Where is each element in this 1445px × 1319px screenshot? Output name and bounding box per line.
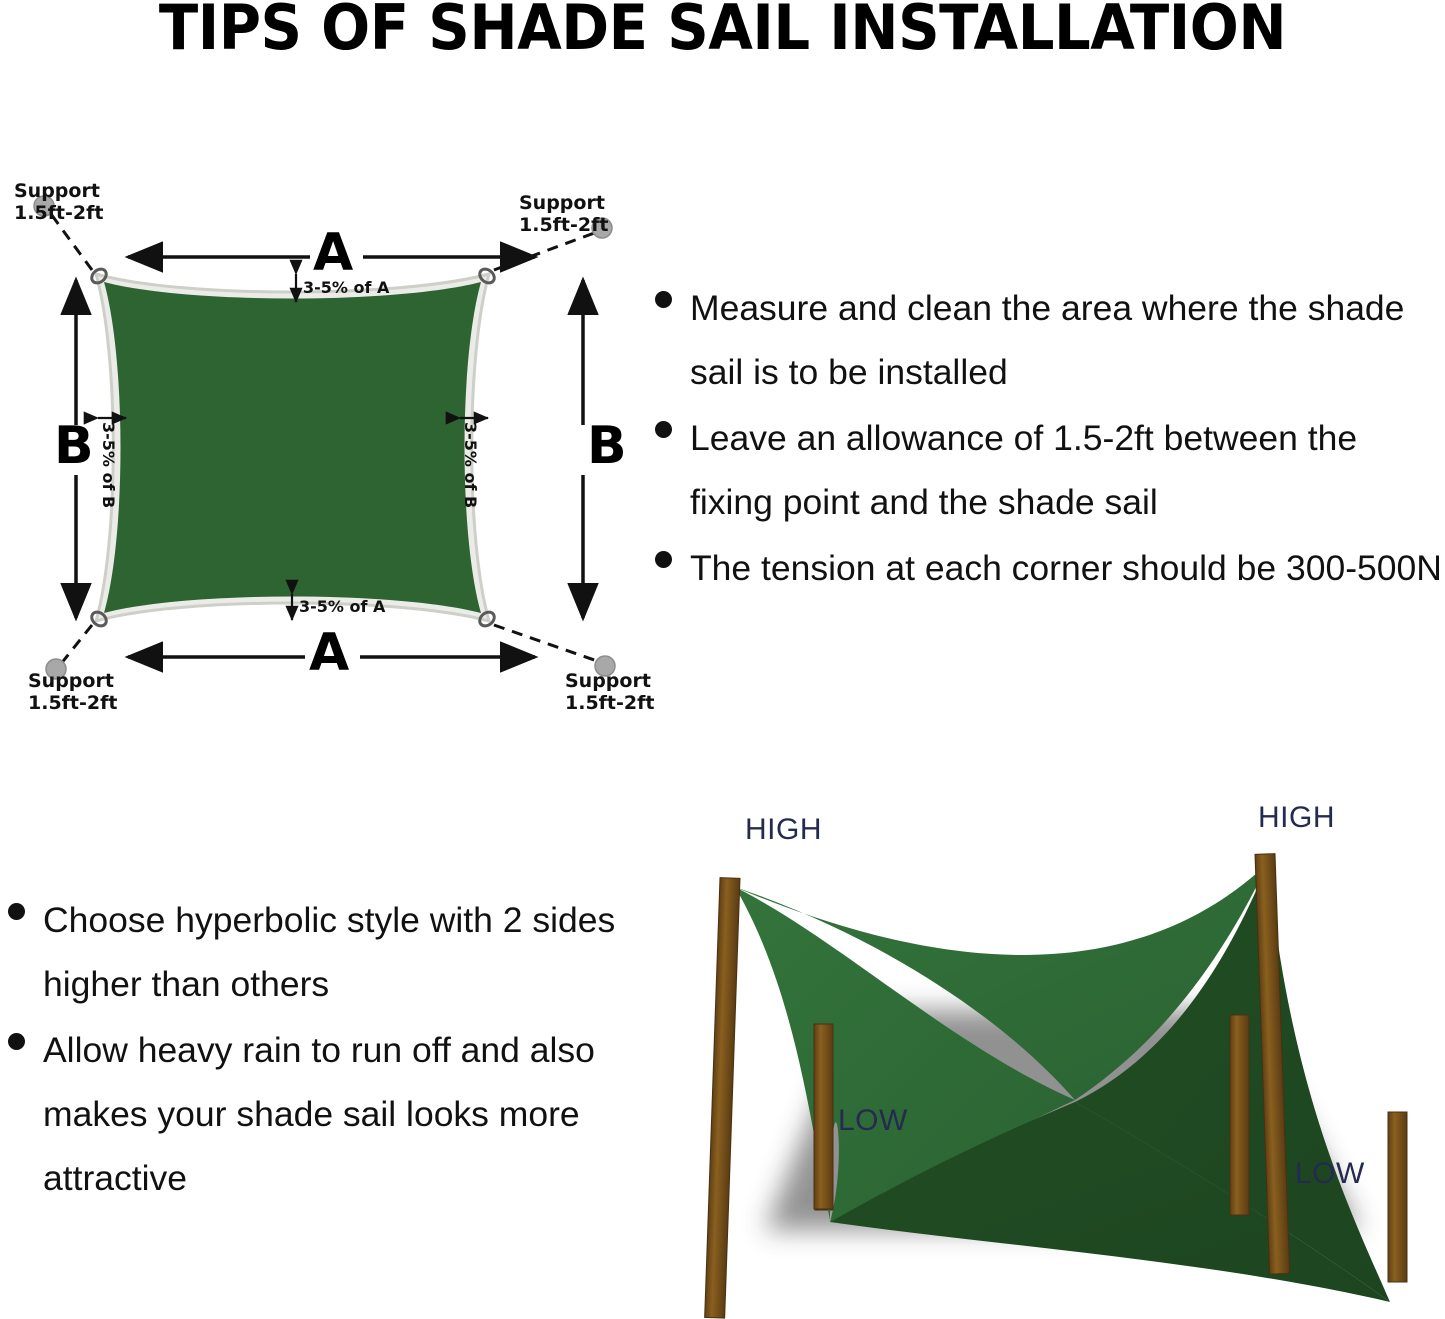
dim-label-A-top: A — [313, 227, 353, 279]
curvature-label-bottom: 3-5% of A — [299, 599, 385, 615]
dim-label-A-bottom: A — [309, 627, 349, 679]
list-item: The tension at each corner should be 300… — [655, 536, 1445, 600]
bullet-dot-icon — [655, 551, 672, 568]
hyperbolic-sail-svg — [690, 790, 1445, 1319]
tips-list-bottom-left: Choose hyperbolic style with 2 sides hig… — [8, 888, 628, 1212]
list-item: Measure and clean the area where the sha… — [655, 276, 1445, 404]
bullet-dot-icon — [655, 291, 672, 308]
curvature-label-right: 3-5% of B — [462, 422, 478, 508]
tip-text: The tension at each corner should be 300… — [690, 536, 1442, 600]
dim-label-B-left: B — [54, 420, 94, 472]
tip-text: Allow heavy rain to run off and also mak… — [43, 1018, 628, 1210]
tip-text: Measure and clean the area where the sha… — [690, 276, 1445, 404]
curvature-label-top: 3-5% of A — [303, 280, 389, 296]
hyperbolic-sail-diagram: HIGH HIGH LOW LOW — [690, 790, 1445, 1319]
corner-high-right-label: HIGH — [1258, 802, 1335, 834]
sail-body — [104, 282, 481, 613]
bullet-dot-icon — [655, 421, 672, 438]
post-low-left-front — [814, 1024, 833, 1209]
corner-low-right-label: LOW — [1295, 1158, 1365, 1190]
corner-low-left-label: LOW — [838, 1105, 908, 1137]
post-mid-right — [1230, 1015, 1249, 1215]
bullet-dot-icon — [8, 1033, 25, 1050]
page-title: TIPS OF SHADE SAIL INSTALLATION — [51, 0, 1395, 60]
post-high-left — [705, 878, 740, 1318]
list-item: Leave an allowance of 1.5-2ft between th… — [655, 406, 1445, 534]
corner-high-left-label: HIGH — [745, 814, 822, 846]
rect-sail-diagram: Support1.5ft-2ft Support1.5ft-2ft Suppor… — [0, 170, 660, 730]
dim-label-B-right: B — [587, 420, 627, 472]
list-item: Choose hyperbolic style with 2 sides hig… — [8, 888, 628, 1016]
tips-list-top-right: Measure and clean the area where the sha… — [655, 276, 1445, 602]
tip-text: Choose hyperbolic style with 2 sides hig… — [43, 888, 628, 1016]
bullet-dot-icon — [8, 903, 25, 920]
support-bottom-left-label: Support1.5ft-2ft — [28, 670, 117, 714]
curvature-label-left: 3-5% of B — [100, 422, 116, 508]
tip-text: Leave an allowance of 1.5-2ft between th… — [690, 406, 1445, 534]
list-item: Allow heavy rain to run off and also mak… — [8, 1018, 628, 1210]
support-top-left-label: Support1.5ft-2ft — [14, 180, 103, 224]
support-bottom-right-label: Support1.5ft-2ft — [565, 670, 654, 714]
support-top-right-label: Support1.5ft-2ft — [519, 192, 608, 236]
post-low-right-front — [1388, 1112, 1407, 1282]
